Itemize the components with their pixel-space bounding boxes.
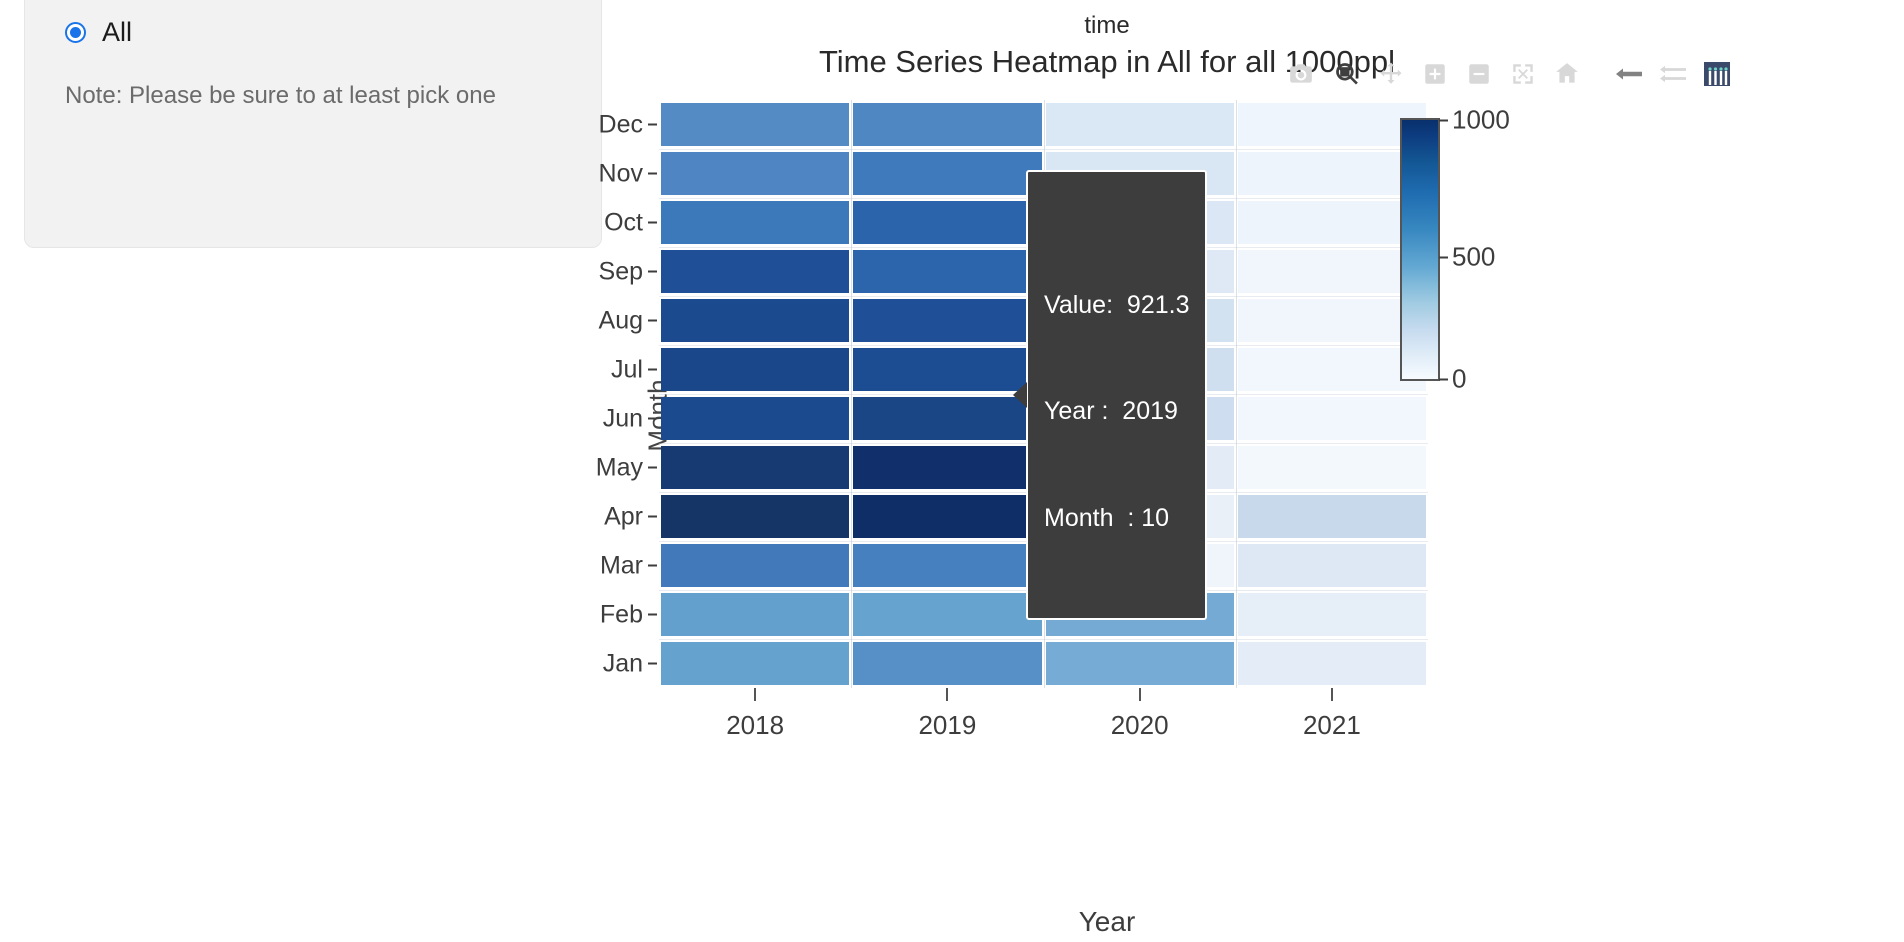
x-axis-tick-mark xyxy=(946,688,948,701)
y-axis-tick-may: May xyxy=(523,453,659,482)
x-axis-label: Year xyxy=(602,906,1612,938)
heatmap-cell[interactable] xyxy=(853,201,1041,244)
x-axis-tick-2020: 2020 xyxy=(1050,710,1230,741)
modebar-group-download xyxy=(1280,53,1322,95)
x-axis-tick-mark xyxy=(754,688,756,701)
hover-compare-icon[interactable] xyxy=(1652,53,1694,95)
y-axis-tick-feb: Feb xyxy=(523,600,659,629)
heatmap-cell[interactable] xyxy=(853,152,1041,195)
heatmap-cell[interactable] xyxy=(1238,544,1426,587)
x-axis-tick-mark xyxy=(1139,688,1141,701)
heatmap-cell[interactable] xyxy=(661,544,849,587)
heatmap-cell[interactable] xyxy=(853,250,1041,293)
heatmap-cell[interactable] xyxy=(853,299,1041,342)
heatmap-cell[interactable] xyxy=(661,250,849,293)
hover-tooltip: Value: 921.3 Year : 2019 Month : 10 xyxy=(1026,170,1207,620)
heatmap-cell[interactable] xyxy=(853,642,1041,685)
tooltip-row-value: Value: 921.3 xyxy=(1044,288,1189,324)
heatmap-cell[interactable] xyxy=(1238,152,1426,195)
download-camera-icon[interactable] xyxy=(1280,53,1322,95)
heatmap-cell[interactable] xyxy=(661,642,849,685)
radio-label-all: All xyxy=(102,19,132,46)
plotly-figure: time Time Series Heatmap in All for all … xyxy=(602,0,1904,942)
heatmap-cell[interactable] xyxy=(1046,103,1234,146)
y-axis-tick-nov: Nov xyxy=(523,159,659,188)
colorbar-tick-1000: 1000 xyxy=(1438,105,1510,136)
heatmap-cell[interactable] xyxy=(853,495,1041,538)
zoom-in-icon[interactable] xyxy=(1414,53,1456,95)
tooltip-row-month: Month : 10 xyxy=(1044,501,1189,537)
zoom-out-icon[interactable] xyxy=(1458,53,1500,95)
grid-line-horizontal xyxy=(659,149,1428,150)
plotly-logo-icon[interactable] xyxy=(1696,53,1738,95)
heatmap-cell[interactable] xyxy=(661,397,849,440)
x-axis-tick-mark xyxy=(1331,688,1333,701)
heatmap-cell[interactable] xyxy=(853,593,1041,636)
app-root: All Note: Please be sure to at least pic… xyxy=(0,0,1904,942)
heatmap-cell[interactable] xyxy=(1238,397,1426,440)
heatmap-cell[interactable] xyxy=(1238,250,1426,293)
heatmap-cell[interactable] xyxy=(853,446,1041,489)
y-axis-tick-sep: Sep xyxy=(523,257,659,286)
heatmap-cell[interactable] xyxy=(661,593,849,636)
x-axis-tick-2021: 2021 xyxy=(1242,710,1422,741)
heatmap-cell[interactable] xyxy=(661,152,849,195)
pan-icon[interactable] xyxy=(1370,53,1412,95)
grid-line-horizontal xyxy=(659,639,1428,640)
x-axis-tick-2019: 2019 xyxy=(857,710,1037,741)
heatmap-cell[interactable] xyxy=(661,299,849,342)
heatmap-cell[interactable] xyxy=(661,446,849,489)
plot-subtitle: time xyxy=(602,12,1612,40)
modebar-group-hover xyxy=(1608,53,1738,95)
heatmap-cell[interactable] xyxy=(661,348,849,391)
heatmap-cell[interactable] xyxy=(853,544,1041,587)
y-axis-tick-jul: Jul xyxy=(523,355,659,384)
heatmap-cell[interactable] xyxy=(1238,201,1426,244)
tooltip-row-year: Year : 2019 xyxy=(1044,394,1189,430)
radio-selected-dot xyxy=(70,27,81,38)
heatmap-cell[interactable] xyxy=(1238,593,1426,636)
radio-option-all[interactable]: All xyxy=(65,19,132,46)
y-axis-tick-jan: Jan xyxy=(523,649,659,678)
heatmap-cell[interactable] xyxy=(853,103,1041,146)
toggle-spike-lines-icon[interactable] xyxy=(1608,53,1650,95)
colorbar-tick-500: 500 xyxy=(1438,242,1495,273)
zoom-icon[interactable] xyxy=(1326,53,1368,95)
radio-button-icon[interactable] xyxy=(65,22,86,43)
plotly-modebar[interactable] xyxy=(1280,52,1738,96)
heatmap-cell[interactable] xyxy=(661,495,849,538)
x-axis-tick-2018: 2018 xyxy=(665,710,845,741)
heatmap-cell[interactable] xyxy=(1238,299,1426,342)
y-axis-tick-dec: Dec xyxy=(523,110,659,139)
y-axis-tick-jun: Jun xyxy=(523,404,659,433)
y-axis-tick-oct: Oct xyxy=(523,208,659,237)
heatmap-cell[interactable] xyxy=(1238,642,1426,685)
note-text: Note: Please be sure to at least pick on… xyxy=(65,77,535,114)
heatmap-cell[interactable] xyxy=(1238,495,1426,538)
heatmap-cell[interactable] xyxy=(661,103,849,146)
colorbar-tick-0: 0 xyxy=(1438,364,1466,395)
autoscale-icon[interactable] xyxy=(1502,53,1544,95)
heatmap-cell[interactable] xyxy=(661,201,849,244)
heatmap-cell[interactable] xyxy=(1238,446,1426,489)
colorbar: 1000 500 0 xyxy=(1400,118,1440,381)
heatmap-cell[interactable] xyxy=(1238,348,1426,391)
heatmap-cell[interactable] xyxy=(1238,103,1426,146)
reset-axes-icon[interactable] xyxy=(1546,53,1588,95)
y-axis-tick-apr: Apr xyxy=(523,502,659,531)
y-axis-tick-aug: Aug xyxy=(523,306,659,335)
tooltip-arrow xyxy=(1013,382,1027,408)
control-panel-card: All Note: Please be sure to at least pic… xyxy=(24,0,602,248)
modebar-group-zoompan xyxy=(1326,53,1588,95)
y-axis-tick-mar: Mar xyxy=(523,551,659,580)
heatmap-cell[interactable] xyxy=(1046,642,1234,685)
